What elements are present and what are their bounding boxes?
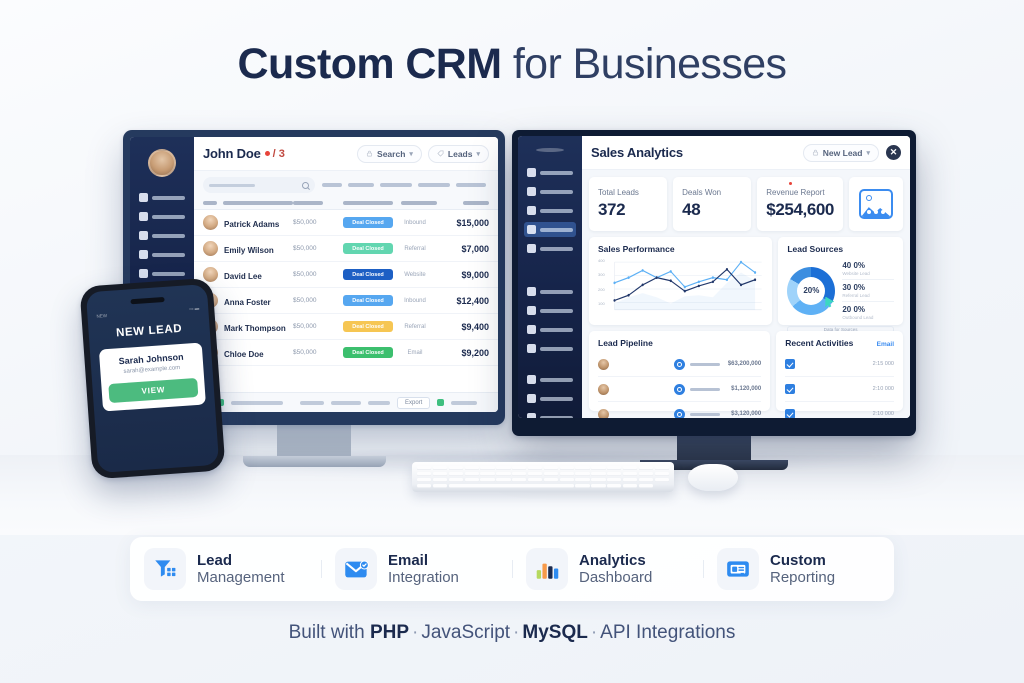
dashboard-title: Sales Analytics <box>591 145 683 160</box>
feature-lead-management[interactable]: Lead Management <box>130 548 321 590</box>
deals-icon <box>139 231 148 240</box>
envelope-icon <box>335 548 377 590</box>
sidebar-item-dashboard[interactable]: Dashboard <box>524 284 576 299</box>
archive-icon <box>527 413 536 418</box>
sidebar-item-label: Reports list <box>540 309 573 313</box>
monitor-2-sidebar: Lead Leads Leads Deals Companies Reports <box>518 136 582 418</box>
pipeline-middle: Deal Phase <box>690 363 720 366</box>
legend-item: 20 0% Outbound Lead <box>842 302 894 323</box>
list-item[interactable]: Qualified Lead lead information Deal Pha… <box>598 377 761 402</box>
line-chart: 400 300 200 100 <box>598 258 763 318</box>
lead-name: Patrick Adams <box>224 220 279 229</box>
sidebar-item-reports[interactable]: Reports <box>524 241 576 256</box>
filter-chips: Leads Leads Contacts Accounts Opportunit… <box>322 183 486 187</box>
tech-prefix: Built with <box>289 622 370 643</box>
donut-chart-row: 20% 40 0% Website Lead 30 0% <box>787 258 894 323</box>
kpi-card-revenue: Revenue Report $254,600 <box>757 177 843 231</box>
bar-chart-icon <box>526 548 568 590</box>
search-placeholder: Search leads <box>209 184 255 187</box>
sidebar-item-leads[interactable]: Leads <box>524 184 576 199</box>
feature-text: Custom Reporting <box>770 552 835 587</box>
tag-icon <box>437 150 444 157</box>
monitor-2: Lead Leads Leads Deals Companies Reports <box>512 130 916 436</box>
avatar <box>536 148 564 152</box>
avatar <box>598 384 609 395</box>
legend-item: 40 0% Website Lead <box>842 258 894 280</box>
monitor-1-stand <box>277 424 351 460</box>
activity-time: 2:10 000 <box>868 411 894 417</box>
sidebar-item-label: Dashboard <box>540 290 573 294</box>
view-button[interactable]: VIEW <box>108 378 198 403</box>
feature-text: Email Integration <box>388 552 459 587</box>
phone-status-bar: NEW ▭ ▬ <box>96 306 199 319</box>
feature-custom-reporting[interactable]: Custom Reporting <box>703 548 894 590</box>
leads-table: Patrick Adams lead information $50,000 D… <box>194 210 498 392</box>
phone-battery-icon: ▭ ▬ <box>189 306 199 313</box>
sidebar-item-reports-new[interactable]: Reports new <box>524 341 576 356</box>
tech-item-api: API Integrations <box>600 622 735 643</box>
sidebar-item-label: Reports new <box>540 347 573 351</box>
export-button[interactable]: Export <box>397 397 430 409</box>
legend-label: Website Lead <box>842 271 894 276</box>
feature-analytics-dashboard[interactable]: Analytics Dashboard <box>512 548 703 590</box>
sidebar-item-deals[interactable]: Deals <box>136 228 188 243</box>
phone-status-label: NEW <box>96 313 107 319</box>
sidebar-item-label: Companies <box>540 228 573 232</box>
table-row[interactable]: Mark Thompson lead information $50,000 D… <box>194 314 498 340</box>
lead-value: $7,000 <box>437 244 489 254</box>
column-header: Sort <box>203 201 217 205</box>
dots <box>867 210 885 214</box>
stage-icon <box>674 409 685 419</box>
pipeline-middle: Deal Phase <box>690 413 720 416</box>
list-item[interactable]: Proposal Document Sent lead information … <box>785 377 894 402</box>
pipeline-text: Qualified Lead lead information <box>614 380 669 398</box>
sidebar-item-label: Leads <box>540 397 573 401</box>
kpi-value: 48 <box>682 200 742 220</box>
feature-email-integration[interactable]: Email Integration <box>321 548 512 590</box>
leads-icon <box>139 193 148 202</box>
checkbox[interactable] <box>785 384 795 394</box>
monitor-1-topbar: John Doe / 3 Search ▾ Leads ▾ <box>194 137 498 171</box>
filter-chip[interactable]: Accounts <box>418 183 450 187</box>
lead-name: Mark Thompson <box>224 324 286 333</box>
avatar <box>203 241 218 256</box>
sidebar-item-label: Leads <box>540 378 573 382</box>
filter-chip[interactable]: Contacts <box>380 183 412 187</box>
legend-label: Referral Lead <box>842 293 894 298</box>
sidebar-item-label: Leads <box>152 215 185 219</box>
y-tick-label: 300 <box>598 272 605 277</box>
status-badge: Deal Closed <box>343 321 393 332</box>
feature-title: Custom <box>770 552 835 569</box>
donut-chart: 20% <box>787 267 835 315</box>
lead-name-cell: Anna Foster lead information <box>224 292 293 310</box>
new-lead-card: Sarah Johnson sarah@example.com VIEW <box>99 342 206 411</box>
footer-label <box>231 401 283 405</box>
deals-icon <box>527 206 536 215</box>
activity-text: Proposal Document Sent lead information … <box>800 380 863 398</box>
lead-name-cell: Chloe Doe lead information <box>224 344 293 362</box>
keyboard[interactable] <box>412 462 674 492</box>
image-placeholder-card <box>849 177 903 231</box>
lead-sources-card: Lead Sources 20% 40 0% Website Lead <box>778 237 903 325</box>
lead-email: $50,000 <box>293 297 343 304</box>
legend-value: 40 0% <box>842 261 894 270</box>
keyboard-row <box>417 466 669 470</box>
status-badge: Deal Closed <box>343 269 393 280</box>
sidebar-item-label: Deals <box>152 234 185 238</box>
lead-email: $50,000 <box>293 245 343 252</box>
check-icon <box>139 212 148 221</box>
legend-label: Outbound Lead <box>842 315 894 320</box>
column-header: Source <box>401 201 437 205</box>
monitor-2-topbar: Sales Analytics New Lead ▾ ✕ <box>582 136 910 170</box>
feature-strip: Lead Management Email Integration <box>130 537 894 601</box>
kpi-card-total-leads: Total Leads 372 <box>589 177 667 231</box>
grid-icon <box>527 325 536 334</box>
table-footer: Export <box>194 392 498 412</box>
table-row[interactable]: Chloe Doe lead information $50,000 Deal … <box>194 340 498 366</box>
pipeline-middle: Deal Phase <box>690 388 720 391</box>
separator: · <box>510 622 522 643</box>
lead-name: Chloe Doe <box>224 350 264 359</box>
lead-name: Anna Foster <box>224 298 271 307</box>
footer-action-label <box>451 401 477 405</box>
new-lead-button-label: New Lead <box>823 148 863 158</box>
table-header: Sort Name Email Company Source Value <box>194 196 498 210</box>
checkbox[interactable] <box>785 409 795 418</box>
add-icon[interactable] <box>437 399 444 406</box>
keyboard-row <box>417 478 669 482</box>
phone-screen: NEW ▭ ▬ NEW LEAD Sarah Johnson sarah@exa… <box>86 284 219 473</box>
chevron-down-icon: ▾ <box>476 150 480 158</box>
status-badge: Deal Closed <box>343 295 393 306</box>
filter-chip[interactable]: Leads <box>322 183 342 187</box>
legend: 40 0% Website Lead 30 0% Referral Lead 2… <box>842 258 894 323</box>
sidebar-item-settings[interactable]: Leads <box>524 372 576 387</box>
feature-text: Lead Management <box>197 552 285 587</box>
charts-row: Sales Performance <box>589 237 903 325</box>
pipeline-value: $1,120,000 <box>725 386 761 392</box>
dashboard-icon <box>527 287 536 296</box>
sidebar-item-reports-list[interactable]: Reports list <box>524 303 576 318</box>
kpi-label: Total Leads <box>598 188 658 197</box>
tech-stack-line: Built with PHP·JavaScript·MySQL·API Inte… <box>0 622 1024 644</box>
analytics-dashboard: Total Leads 372 Deals Won 48 Revenue Rep… <box>582 170 910 418</box>
list-item[interactable]: Created Customer Record lead information… <box>785 352 894 377</box>
tech-item-mysql: MySQL <box>522 622 587 643</box>
feature-subtitle: Dashboard <box>579 569 652 586</box>
companies-icon <box>527 225 536 234</box>
lead-email: $50,000 <box>293 271 343 278</box>
list-item[interactable]: Initial Contact lead information Deal Ph… <box>598 352 761 377</box>
phone-notch <box>130 297 164 304</box>
lead-email: $50,000 <box>293 349 343 356</box>
alert-dot-icon <box>789 182 792 185</box>
monitor-2-body: Sales Analytics New Lead ▾ ✕ Total Leads… <box>582 136 910 418</box>
y-tick-label: 400 <box>598 258 605 263</box>
card-title: Lead Pipeline <box>598 338 761 348</box>
lead-source: Inbound <box>393 298 437 304</box>
phone-mockup: NEW ▭ ▬ NEW LEAD Sarah Johnson sarah@exa… <box>79 278 225 480</box>
lead-value: $9,200 <box>437 348 489 358</box>
status-badge: Deal Closed <box>343 243 393 254</box>
avatar <box>203 215 218 230</box>
sidebar-item-extra-2[interactable]: Leads <box>524 410 576 418</box>
list-item[interactable]: Follow-up Customer Phone lead informatio… <box>785 402 894 418</box>
pipeline-text: Proposal Sent lead information <box>614 405 669 418</box>
monitor-1-toolbar: Search leads Leads Leads Contacts Accoun… <box>194 171 498 196</box>
lead-email: $50,000 <box>293 219 343 226</box>
legend-item: 30 0% Referral Lead <box>842 280 894 302</box>
sidebar-item-leads[interactable]: Leads <box>136 209 188 224</box>
pagination-next[interactable] <box>368 401 390 405</box>
stage-icon <box>674 359 685 370</box>
table-row[interactable]: Anna Foster lead information $50,000 Dea… <box>194 288 498 314</box>
filter-chip[interactable]: Opportunities <box>456 183 486 187</box>
sidebar-item-label: Lead Leads <box>152 196 185 200</box>
pagination-info <box>331 401 361 405</box>
feature-subtitle: Integration <box>388 569 459 586</box>
activity-text: Created Customer Record lead information… <box>800 355 863 373</box>
lead-name: David Lee <box>224 272 262 281</box>
sales-performance-chart-card: Sales Performance <box>589 237 772 325</box>
keyboard-row <box>417 472 669 476</box>
sidebar-item-lead-leads[interactable]: Lead Leads <box>136 190 188 205</box>
gear-icon <box>527 375 536 384</box>
lead-value: $9,400 <box>437 322 489 332</box>
mouse[interactable] <box>688 464 738 491</box>
sidebar-item-label: Reports <box>152 272 185 276</box>
recent-activities-card: Recent Activities Email Created Customer… <box>776 331 903 411</box>
monitor-2-screen: Lead Leads Leads Deals Companies Reports <box>518 136 910 418</box>
email-link[interactable]: Email <box>877 341 894 348</box>
kpi-card-deals-won: Deals Won 48 <box>673 177 751 231</box>
close-icon[interactable]: ✕ <box>886 145 901 160</box>
status-dot-icon <box>265 151 270 156</box>
search-button[interactable]: Search ▾ <box>357 145 422 163</box>
sidebar-item-label: Reports all <box>540 328 573 332</box>
table-row[interactable]: David Lee lead information $50,000 Deal … <box>194 262 498 288</box>
kpi-value: $254,600 <box>766 200 834 220</box>
feature-title: Email <box>388 552 459 569</box>
funnel-icon <box>144 548 186 590</box>
lead-source: Email <box>393 350 437 356</box>
filter-chip[interactable]: Leads <box>348 183 374 187</box>
table-row[interactable]: Patrick Adams lead information $50,000 D… <box>194 210 498 236</box>
avatar <box>598 409 609 419</box>
card-title: Recent Activities <box>785 338 853 348</box>
lead-value: $15,000 <box>437 218 489 228</box>
sidebar-item-reports[interactable]: Reports <box>136 266 188 281</box>
folder-icon <box>527 394 536 403</box>
status-badge: Deal Closed <box>343 217 393 228</box>
search-button-label: Search <box>377 149 405 159</box>
sidebar-item-deals[interactable]: Deals <box>524 203 576 218</box>
sidebar-item-label: Lead Leads <box>540 171 573 175</box>
lead-source: Referral <box>393 324 437 330</box>
separator: · <box>588 622 600 643</box>
lead-name-cell: David Lee lead information <box>224 266 293 284</box>
sidebar-item-lead-leads[interactable]: Lead Leads <box>524 165 576 180</box>
pagination-prev[interactable] <box>300 401 324 405</box>
workspace-title: John Doe <box>203 146 261 161</box>
lead-name-cell: Emily Wilson lead information <box>224 240 293 258</box>
lead-source: Inbound <box>393 220 437 226</box>
feature-text: Analytics Dashboard <box>579 552 652 587</box>
monitor-1-body: John Doe / 3 Search ▾ Leads ▾ <box>194 137 498 412</box>
column-header: Company <box>343 201 393 205</box>
lead-name: Emily Wilson <box>224 246 274 255</box>
keyboard-row <box>417 484 669 488</box>
lead-pipeline-card: Lead Pipeline Initial Contact lead infor… <box>589 331 770 411</box>
kpi-value: 372 <box>598 200 658 220</box>
sidebar-item-label: Companies <box>152 253 185 257</box>
lead-source: Website <box>393 272 437 278</box>
companies-icon <box>139 250 148 259</box>
search-icon <box>302 182 309 189</box>
lists-row: Lead Pipeline Initial Contact lead infor… <box>589 331 903 411</box>
monitor-2-stand <box>677 435 751 463</box>
column-header: Name <box>223 201 293 205</box>
pipeline-value: $3,120,000 <box>725 411 761 417</box>
sidebar-item-label: Leads <box>540 190 573 194</box>
sidebar-item-reports-all[interactable]: Reports all <box>524 322 576 337</box>
lead-email: $50,000 <box>293 323 343 330</box>
lead-source: Referral <box>393 246 437 252</box>
sidebar-item-label: Reports <box>540 247 573 251</box>
sidebar-item-companies[interactable]: Companies <box>136 247 188 262</box>
lead-value: $12,400 <box>437 296 489 306</box>
sidebar-item-companies[interactable]: Companies <box>524 222 576 237</box>
workspace-title-suffix: / 3 <box>273 148 285 160</box>
chevron-down-icon: ▾ <box>409 150 413 158</box>
activity-time: 2:10 000 <box>868 386 894 392</box>
sidebar-item-label: Leads <box>540 416 573 419</box>
sidebar-item-label: Deals <box>540 209 573 213</box>
sidebar-item-extra-1[interactable]: Leads <box>524 391 576 406</box>
chart-title: Sales Performance <box>598 244 763 254</box>
list-icon <box>527 306 536 315</box>
lock-icon <box>366 150 373 157</box>
leads-button[interactable]: Leads ▾ <box>428 145 489 163</box>
status-badge: Deal Closed <box>343 347 393 358</box>
activity-time: 2:15 000 <box>868 361 894 367</box>
phone-headline: NEW LEAD <box>116 323 183 340</box>
lock-icon <box>812 149 819 156</box>
separator: · <box>409 622 421 643</box>
card-header: Recent Activities Email <box>785 338 894 352</box>
avatar <box>203 267 218 282</box>
plus-icon <box>527 344 536 353</box>
list-item[interactable]: Proposal Sent lead information Deal Phas… <box>598 402 761 418</box>
kpi-row: Total Leads 372 Deals Won 48 Revenue Rep… <box>589 177 903 231</box>
reports-icon <box>139 269 148 278</box>
pipeline-value: $63,200,000 <box>725 361 761 367</box>
kpi-label: Deals Won <box>682 188 742 197</box>
tech-item-javascript: JavaScript <box>421 622 510 643</box>
lead-value: $9,000 <box>437 270 489 280</box>
feature-subtitle: Management <box>197 569 285 586</box>
leads-icon <box>527 168 536 177</box>
feature-title: Analytics <box>579 552 652 569</box>
image-icon <box>859 189 893 219</box>
avatar <box>148 149 176 177</box>
avatar <box>598 359 609 370</box>
reports-icon <box>527 244 536 253</box>
donut-center-label: 20% <box>787 267 835 315</box>
stage-icon <box>674 384 685 395</box>
chevron-down-icon: ▾ <box>866 149 870 157</box>
table-row[interactable]: Emily Wilson lead information $50,000 De… <box>194 236 498 262</box>
chart-title: Lead Sources <box>787 244 894 254</box>
lead-name-cell: Patrick Adams lead information <box>224 214 293 232</box>
column-header: Value <box>463 201 489 205</box>
report-card-icon <box>717 548 759 590</box>
check-icon <box>527 187 536 196</box>
new-lead-button[interactable]: New Lead ▾ <box>803 144 879 162</box>
y-tick-label: 100 <box>598 301 605 306</box>
feature-subtitle: Reporting <box>770 569 835 586</box>
pipeline-text: Initial Contact lead information <box>614 355 669 373</box>
sun-icon <box>866 195 872 201</box>
column-header: Email <box>293 201 323 205</box>
legend-value: 20 0% <box>842 305 894 314</box>
leads-button-label: Leads <box>448 149 473 159</box>
activity-text: Follow-up Customer Phone lead informatio… <box>800 405 863 418</box>
lead-name-cell: Mark Thompson lead information <box>224 318 293 336</box>
checkbox[interactable] <box>785 359 795 369</box>
kpi-label: Revenue Report <box>766 188 834 197</box>
search-input[interactable]: Search leads <box>203 177 315 193</box>
feature-title: Lead <box>197 552 285 569</box>
tech-item-php: PHP <box>370 622 409 643</box>
legend-value: 30 0% <box>842 283 894 292</box>
monitor-1-base <box>243 456 386 467</box>
y-tick-label: 200 <box>598 287 605 292</box>
